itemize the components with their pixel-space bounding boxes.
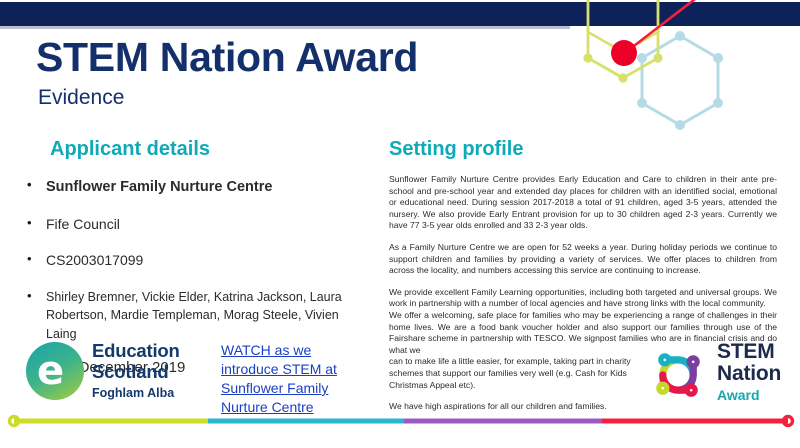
page-title: STEM Nation Award — [36, 34, 418, 81]
top-band-shadow — [0, 26, 570, 29]
list-item: Sunflower Family Nurture Centre — [0, 177, 382, 198]
paragraph: Sunflower Family Nurture Centre provides… — [389, 174, 777, 232]
stem-nation-line3: Award — [717, 387, 781, 403]
stem-nation-line2: Nation — [717, 363, 781, 385]
top-navy-band — [0, 2, 800, 26]
stem-nation-award-logo: STEM Nation Award — [645, 342, 793, 408]
stem-nation-wordmark: STEM Nation Award — [717, 341, 781, 403]
stem-nation-line1: STEM — [717, 341, 781, 363]
bottom-color-rule — [0, 414, 800, 428]
paragraph: As a Family Nurture Centre we are open f… — [389, 242, 777, 277]
paragraph-last: We have high aspirations for all our chi… — [389, 401, 645, 413]
paragraph: We provide excellent Family Learning opp… — [389, 287, 777, 310]
list-item: Fife Council — [0, 215, 382, 235]
paragraph-narrow: can to make life a little easier, for ex… — [389, 356, 645, 391]
education-scotland-mark-icon: e — [26, 342, 84, 400]
education-scotland-line3: Foghlam Alba — [92, 386, 180, 400]
education-scotland-line2: Scotland — [92, 361, 180, 382]
education-scotland-letter: e — [37, 351, 75, 391]
education-scotland-line1: Education — [92, 340, 180, 361]
education-scotland-wordmark: Education Scotland Foghlam Alba — [92, 340, 180, 400]
education-scotland-logo: e Education Scotland Foghlam Alba — [26, 338, 201, 408]
watch-video-link[interactable]: WATCH as we introduce STEM at Sunflower … — [221, 341, 356, 417]
setting-profile-heading: Setting profile — [389, 138, 777, 161]
list-item: Shirley Bremner, Vickie Elder, Katrina J… — [0, 288, 382, 342]
page-subtitle: Evidence — [38, 86, 124, 110]
stem-nation-pinwheel-icon — [645, 342, 711, 408]
applicant-details-heading: Applicant details — [50, 138, 382, 161]
list-item: CS2003017099 — [0, 251, 382, 271]
